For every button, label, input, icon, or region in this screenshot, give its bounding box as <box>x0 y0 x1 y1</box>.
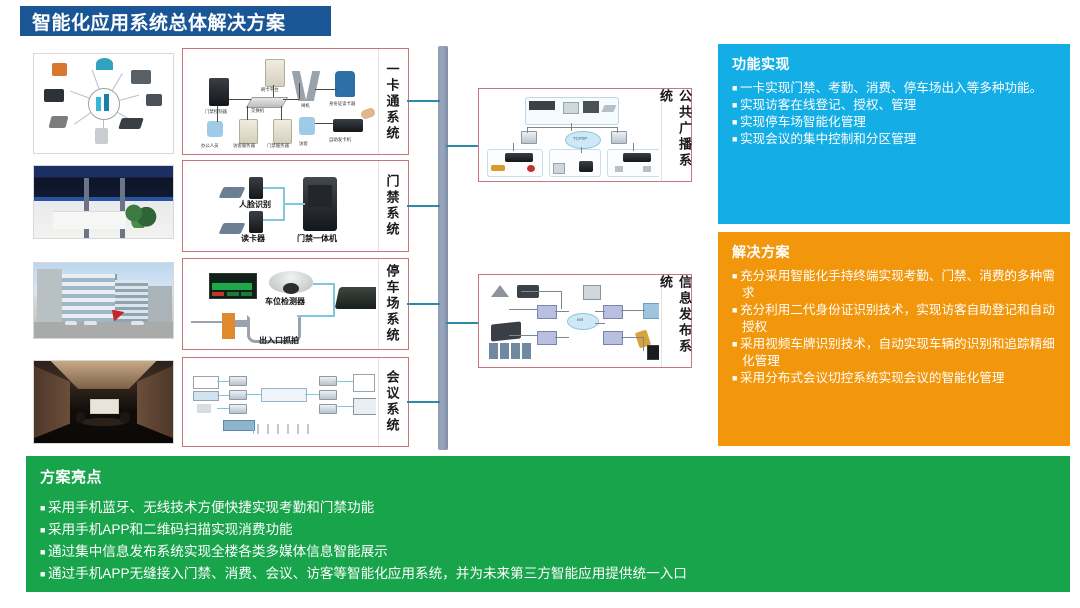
list-item: 采用视频车牌识别技术，自动实现车辆的识别和追踪精细化管理 <box>732 336 1058 370</box>
card-function-title: 功能实现 <box>732 54 1058 74</box>
list-item: 充分采用智能化手持终端实现考勤、门禁、消费的多种需求 <box>732 268 1058 302</box>
connector-publish <box>446 322 482 324</box>
list-item: 实现访客在线登记、授权、管理 <box>732 97 1058 114</box>
caption-entrance-capture: 出入口抓拍 <box>259 335 299 345</box>
list-item: 一卡实现门禁、考勤、消费、停车场出入等多种功能。 <box>732 80 1058 97</box>
card-highlights-title: 方案亮点 <box>40 466 1058 487</box>
panel-label-parking: 停车场系统 <box>378 259 405 349</box>
page-title-bar: 智能化应用系统总体解决方案 <box>20 6 331 36</box>
photo-onecard-scene <box>33 53 174 154</box>
caption-access-terminal: 门禁一体机 <box>297 233 337 244</box>
hub-icon <box>88 88 120 120</box>
panel-label-access: 门禁系统 <box>378 161 405 251</box>
list-item: 通过集中信息发布系统实现全楼各类多媒体信息智能展示 <box>40 541 1058 563</box>
connector-conference <box>407 401 440 403</box>
panel-access-system: 人脸识别 读卡器 门禁一体机 门禁系统 <box>182 160 409 252</box>
panel-label-conference: 会议系统 <box>378 358 405 446</box>
caption-face-recognition: 人脸识别 <box>239 199 271 210</box>
list-item: 实现停车场智能化管理 <box>732 114 1058 131</box>
list-item: 采用手机蓝牙、无线技术方便快捷实现考勤和门禁功能 <box>40 497 1058 519</box>
card-solution: 解决方案 充分采用智能化手持终端实现考勤、门禁、消费的多种需求 充分利用二代身份… <box>718 232 1070 446</box>
panel-broadcast-system: TCP/IP 公共广播系统 <box>478 88 692 182</box>
connector-access <box>407 205 440 207</box>
center-spine <box>438 46 448 450</box>
panel-onecard-system: 门禁控制器 刷卡平台 交换机 访客服务器 门禁服务器 办公人员 闸机 访客 身份… <box>182 48 409 155</box>
card-solution-title: 解决方案 <box>732 242 1058 262</box>
panel-label-broadcast: 公共广播系统 <box>661 89 688 181</box>
panel-conference-system: 会议系统 <box>182 357 409 447</box>
page-title: 智能化应用系统总体解决方案 <box>20 8 286 35</box>
card-function-implementation: 功能实现 一卡实现门禁、考勤、消费、停车场出入等多种功能。 实现访客在线登记、授… <box>718 44 1070 224</box>
panel-label-publishing: 信息发布系统 <box>661 275 688 367</box>
list-item: 采用手机APP和二维码扫描实现消费功能 <box>40 519 1058 541</box>
photo-lobby <box>33 165 174 239</box>
connector-parking <box>407 303 440 305</box>
connector-broadcast <box>446 145 482 147</box>
photo-campus <box>33 262 174 339</box>
list-item: 通过手机APP无缝接入门禁、消费、会议、访客等智能化应用系统，并为未来第三方智能… <box>40 563 1058 585</box>
panel-label-onecard: 一卡通系统 <box>378 49 405 154</box>
caption-card-reader: 读卡器 <box>241 233 265 244</box>
card-solution-list: 充分采用智能化手持终端实现考勤、门禁、消费的多种需求 充分利用二代身份证识别技术… <box>732 268 1058 387</box>
list-item: 实现会议的集中控制和分区管理 <box>732 131 1058 148</box>
list-item: 采用分布式会议切控系统实现会议的智能化管理 <box>732 370 1058 387</box>
card-function-list: 一卡实现门禁、考勤、消费、停车场出入等多种功能。 实现访客在线登记、授权、管理 … <box>732 80 1058 148</box>
connector-onecard <box>407 100 440 102</box>
panel-publishing-system: net 信息发布系统 <box>478 274 692 368</box>
list-item: 充分利用二代身份证识别技术，实现访客自助登记和自动授权 <box>732 302 1058 336</box>
card-highlights-list: 采用手机蓝牙、无线技术方便快捷实现考勤和门禁功能 采用手机APP和二维码扫描实现… <box>40 497 1058 585</box>
slide-root: 智能化应用系统总体解决方案 <box>0 0 1080 608</box>
caption-space-detector: 车位检测器 <box>265 296 305 307</box>
card-highlights: 方案亮点 采用手机蓝牙、无线技术方便快捷实现考勤和门禁功能 采用手机APP和二维… <box>26 456 1070 592</box>
photo-conference-room <box>33 360 174 444</box>
panel-parking-system: 车位检测器 出入口抓拍 停车场系统 <box>182 258 409 350</box>
